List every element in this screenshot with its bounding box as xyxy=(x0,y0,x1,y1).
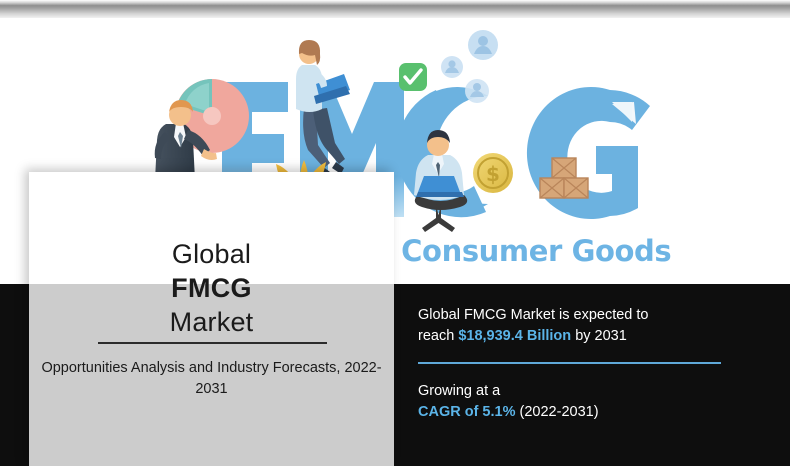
stats-divider xyxy=(418,362,721,364)
title-card-subtitle: Opportunities Analysis and Industry Fore… xyxy=(37,358,386,399)
svg-text:$: $ xyxy=(486,162,500,186)
growth-lead-text: Growing at a xyxy=(418,383,500,399)
growth-period-text: (2022-2031) xyxy=(520,404,599,420)
title-line-market: Market xyxy=(29,308,394,336)
stats-panel: Global FMCG Market is expected to reach … xyxy=(418,305,738,423)
forecast-reach-text: reach xyxy=(418,328,454,344)
user-avatar-bubble-icon xyxy=(468,30,498,60)
forecast-tail-text: by 2031 xyxy=(575,328,627,344)
user-avatar-bubble-icon-3 xyxy=(465,79,489,103)
growth-statement: Growing at a CAGR of 5.1% (2022-2031) xyxy=(418,381,738,423)
gold-coin-dollar-icon: $ xyxy=(473,153,513,193)
forecast-value: $18,939.4 Billion xyxy=(458,328,571,344)
report-title-card: Global FMCG Market Opportunities Analysi… xyxy=(29,172,394,466)
forecast-statement: Global FMCG Market is expected to reach … xyxy=(418,305,738,347)
title-line-global: Global xyxy=(29,240,394,268)
forecast-lead-text: Global FMCG Market is expected to xyxy=(418,307,648,323)
title-card-divider xyxy=(98,342,327,344)
title-line-fmcg: FMCG xyxy=(29,274,394,302)
green-checkmark-icon xyxy=(399,63,427,91)
growth-cagr-value: CAGR of 5.1% xyxy=(418,404,516,420)
top-shadow-divider xyxy=(0,0,790,20)
banner-root: $ xyxy=(0,0,790,466)
user-avatar-bubble-icon-2 xyxy=(441,56,463,78)
